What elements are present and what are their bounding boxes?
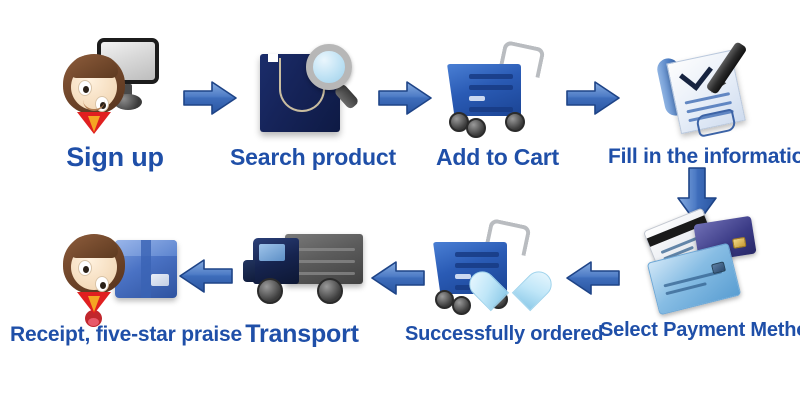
step-transport[interactable]: Transport [232,222,372,347]
step-label-select-payment-method: Select Payment Method [600,320,796,340]
form-document-pen-icon [641,32,766,140]
step-search-product[interactable]: Search product [230,32,390,169]
arrow-left-2 [370,258,426,298]
cart-wheel-mid [466,118,486,138]
cart-slot-highlight [455,274,471,279]
package-tape [141,240,151,298]
avatar-tie [88,296,100,312]
cart-slot [469,85,513,90]
card-chip [732,237,746,249]
step-label-search-product: Search product [230,146,390,169]
step-label-receipt-praise: Receipt, five-star praise [10,324,238,345]
heart-icon [487,264,535,306]
truck-window [259,244,285,261]
avatar-fringe [70,56,118,78]
package-label [151,274,169,286]
step-label-fill-information: Fill in the information [608,146,798,167]
heart-lobe-right [512,266,557,311]
step-label-successfully-ordered: Successfully ordered [405,324,585,344]
cart-slot-highlight [469,96,485,101]
step-fill-information[interactable]: Fill in the information [608,32,798,167]
credit-cards-icon [634,212,762,316]
card-chip [711,261,726,274]
step-label-transport: Transport [232,322,372,347]
cart-wheel-front [505,112,525,132]
process-flowchart: Sign up Search product [0,0,800,400]
step-label-sign-up: Sign up [40,144,190,171]
avatar-tie [88,116,100,132]
avatar-eye-left [78,80,92,96]
cart-slot [469,74,513,79]
step-select-payment-method[interactable]: Select Payment Method [600,212,796,340]
avatar-eye-right [95,276,109,292]
user-signup-icon [55,32,175,140]
step-add-to-cart[interactable]: Add to Cart [425,32,570,169]
cart-wheel-mid [452,296,471,315]
cart-slot [469,107,513,112]
shopping-cart-icon [435,32,560,140]
truck-wheel-rear [317,278,343,304]
bag-notch-left [268,54,278,62]
step-label-add-to-cart: Add to Cart [425,146,570,169]
truck-box-line [293,248,355,251]
truck-wheel-front [257,278,283,304]
user-receiving-package-icon [57,222,192,318]
step-sign-up[interactable]: Sign up [40,32,190,171]
cart-basket [447,64,521,116]
truck-box-line [293,260,355,263]
step-successfully-ordered[interactable]: Successfully ordered [405,218,585,344]
avatar-eye-left [78,260,92,276]
avatar-fringe [70,236,118,258]
delivery-truck-icon [237,222,367,318]
search-icon [306,44,352,90]
truck-nose [243,260,255,282]
step-receipt-praise[interactable]: Receipt, five-star praise [10,222,238,345]
shopping-bag-search-icon [248,32,373,140]
truck-box-line [293,272,355,275]
cart-slot [455,252,499,257]
cart-heart-icon [425,218,565,318]
